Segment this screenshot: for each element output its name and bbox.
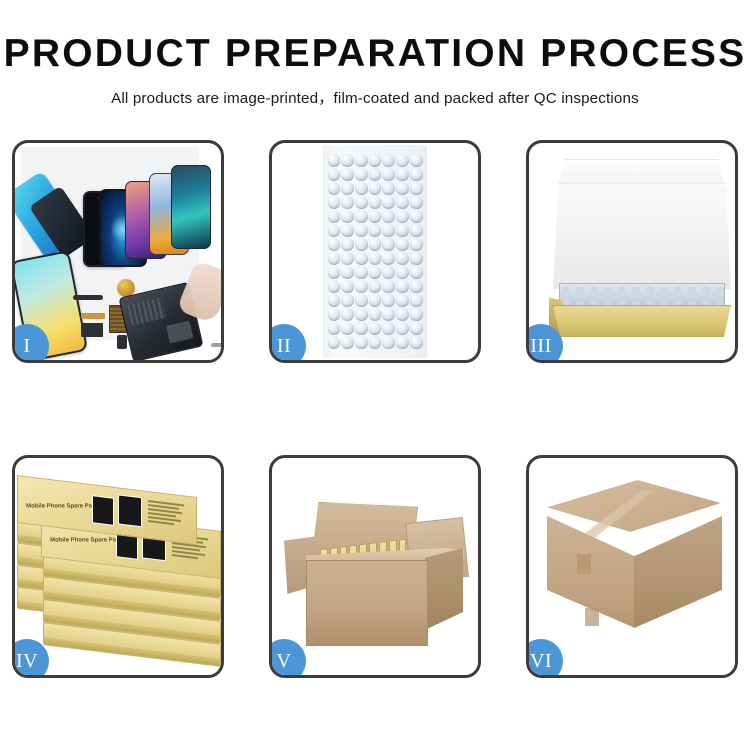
- step-panel-5: V: [269, 455, 481, 678]
- header: PRODUCT PREPARATION PROCESS All products…: [0, 0, 750, 108]
- carton-side-panel: [425, 548, 463, 630]
- carton-right-face: [634, 516, 722, 628]
- carton-flap-seam: [577, 554, 591, 574]
- box-inner-wall: [553, 183, 731, 289]
- open-shipping-carton: [282, 478, 474, 664]
- box-front-panel: [553, 305, 731, 337]
- step-panel-1: I: [12, 140, 224, 363]
- bubble-grid: [327, 153, 423, 351]
- box-label-text: Mobile Phone Spare Parts: [26, 504, 100, 510]
- step-badge-2: II: [272, 324, 306, 360]
- flex-strip-icon: [81, 313, 105, 319]
- box-screen-image: [118, 494, 142, 527]
- step-panel-4: Mobile Phone Spare Parts Mobile Phone Sp…: [12, 455, 224, 678]
- step-panel-3: III: [526, 140, 738, 363]
- step-1-image: I: [15, 143, 221, 360]
- box-stack: Mobile Phone Spare Parts Mobile Phone Sp…: [17, 468, 221, 668]
- step-6-image: VI: [529, 458, 735, 675]
- box-spec-list: [148, 500, 188, 529]
- carton-front-panel: [306, 560, 428, 646]
- step-panel-2: II: [269, 140, 481, 363]
- step-5-image: V: [272, 458, 478, 675]
- step-3-image: III: [529, 143, 735, 360]
- box-screen-image: [92, 495, 114, 526]
- phone-display-teal-icon: [171, 165, 211, 249]
- step-4-image: Mobile Phone Spare Parts Mobile Phone Sp…: [15, 458, 221, 675]
- bubble-wrap-sheet: [323, 145, 427, 358]
- sim-tray-icon: [117, 335, 127, 349]
- steps-grid: I: [12, 140, 738, 678]
- page-subtitle: All products are image-printed，film-coat…: [0, 75, 750, 108]
- carton-flap-seam: [585, 608, 599, 626]
- open-inner-box: [543, 157, 721, 332]
- step-panel-6: VI: [526, 455, 738, 678]
- product-preparation-infographic: PRODUCT PREPARATION PROCESS All products…: [0, 0, 750, 750]
- sealed-shipping-carton: [541, 480, 727, 656]
- connector-block-icon: [81, 323, 103, 337]
- page-title: PRODUCT PREPARATION PROCESS: [0, 0, 750, 75]
- screwdriver-tip-icon: [211, 343, 221, 347]
- earpiece-mesh-icon: [73, 295, 103, 300]
- box-label-text: Mobile Phone Spare Parts: [50, 538, 124, 544]
- step-2-image: II: [272, 143, 478, 360]
